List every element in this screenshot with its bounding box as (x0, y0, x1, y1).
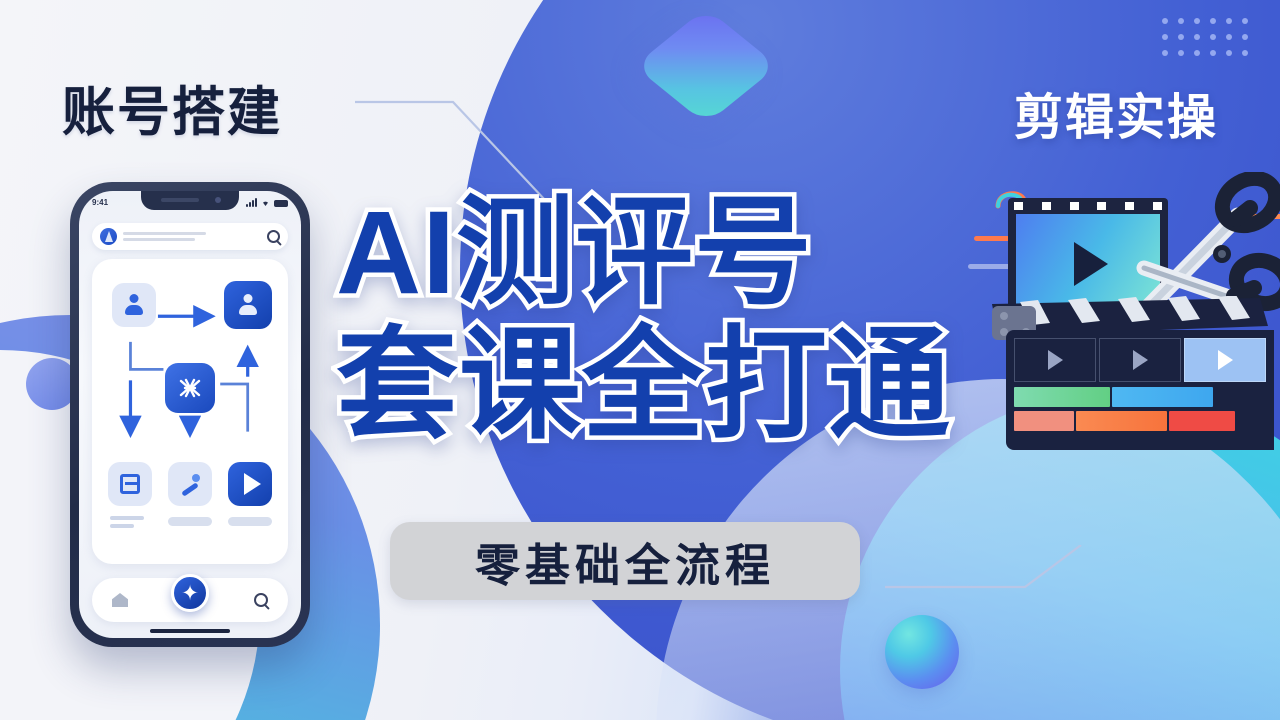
dot-grid-pattern (1162, 18, 1258, 66)
placeholder-line (110, 516, 144, 520)
workflow-card (92, 259, 288, 564)
decorative-3d-cube (652, 20, 760, 128)
search-icon[interactable] (267, 230, 280, 243)
title-line-1: AI测评号 (336, 196, 1096, 312)
main-title: AI测评号 套课全打通 (336, 196, 1096, 445)
battery-icon (274, 200, 288, 207)
timeline-clip[interactable] (1099, 338, 1181, 382)
flow-node-ai-network (165, 363, 215, 413)
timeline-clip-selected[interactable] (1184, 338, 1266, 382)
connector-line-right (885, 545, 1085, 605)
title-line-2: 套课全打通 (336, 326, 1096, 446)
sparkle-icon: ✦ (181, 583, 199, 604)
flow-node-document (108, 462, 152, 506)
add-button[interactable]: ✦ (171, 574, 209, 612)
search-placeholder-lines (123, 232, 261, 241)
decorative-gradient-sphere (885, 615, 959, 689)
subtitle-badge: 零基础全流程 (390, 522, 860, 600)
flow-node-play (228, 462, 272, 506)
status-time: 9:41 (92, 198, 108, 207)
subtitle-text: 零基础全流程 (475, 529, 775, 594)
phone-mockup: 9:41 (70, 182, 310, 647)
signal-icon (246, 198, 257, 207)
placeholder-pill (228, 517, 272, 526)
phone-status-bar: 9:41 (79, 191, 301, 213)
app-icon (100, 228, 117, 245)
flow-node-person-outline (112, 283, 156, 327)
home-indicator (150, 629, 230, 633)
placeholder-pill (168, 517, 212, 526)
flow-node-magic-wand (168, 462, 212, 506)
phone-screen: 9:41 (79, 191, 301, 638)
label-account-setup: 账号搭建 (62, 70, 282, 146)
poster-canvas: 账号搭建 剪辑实操 9:41 (0, 0, 1280, 720)
placeholder-line (110, 524, 134, 528)
flow-node-person-filled (224, 281, 272, 329)
tab-search-icon[interactable] (254, 593, 268, 607)
phone-search-bar[interactable] (92, 223, 288, 250)
wifi-icon (260, 198, 271, 207)
home-icon[interactable] (112, 593, 128, 607)
label-editing-practice: 剪辑实操 (1014, 78, 1218, 149)
